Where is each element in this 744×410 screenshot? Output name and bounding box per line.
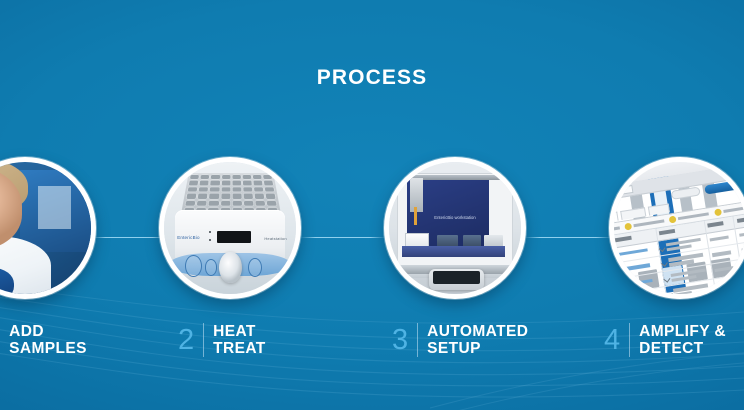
step-text-1: ADD SAMPLES <box>9 323 87 358</box>
step-circle-4 <box>609 157 744 299</box>
heat-block-instrument-photo: EntericBio Heatstation <box>164 162 296 294</box>
workstation-brand-label: EntericBio workstation <box>434 215 475 220</box>
step-number-4: 4 <box>604 326 629 355</box>
device-dial <box>219 252 241 284</box>
step-circle-1 <box>0 157 96 299</box>
step-label-3: 3 AUTOMATED SETUP <box>392 318 528 362</box>
step-label-2: 2 HEAT TREAT <box>178 318 266 362</box>
lab-technician-photo <box>0 162 91 294</box>
device-model-label: Heatstation <box>264 236 286 241</box>
step-divider-2 <box>203 323 204 357</box>
step-divider-3 <box>417 323 418 357</box>
connector-line-1-2 <box>92 237 166 238</box>
step-label-4: 4 AMPLIFY & DETECT <box>604 318 726 362</box>
step-number-2: 2 <box>178 326 203 355</box>
device-display <box>217 231 251 243</box>
results-software-screenshot <box>614 162 744 294</box>
step-label-1: 1 ADD SAMPLES <box>0 318 87 362</box>
connector-line-2-3 <box>300 237 386 238</box>
process-infographic: PROCESS <box>0 0 744 410</box>
step-number-3: 3 <box>392 326 417 355</box>
step-circle-3: EntericBio workstation <box>384 157 526 299</box>
step-text-2: HEAT TREAT <box>213 323 266 358</box>
liquid-handler-robot-photo: EntericBio workstation <box>389 162 521 294</box>
step-text-4: AMPLIFY & DETECT <box>639 323 726 358</box>
device-brand-label: EntericBio <box>177 235 200 240</box>
step-text-3: AUTOMATED SETUP <box>427 323 528 358</box>
step-divider-4 <box>629 323 630 357</box>
workstation-touchscreen <box>429 269 484 290</box>
step-circle-2: EntericBio Heatstation <box>159 157 301 299</box>
connector-line-3-4 <box>524 237 612 238</box>
page-title: PROCESS <box>0 66 744 90</box>
